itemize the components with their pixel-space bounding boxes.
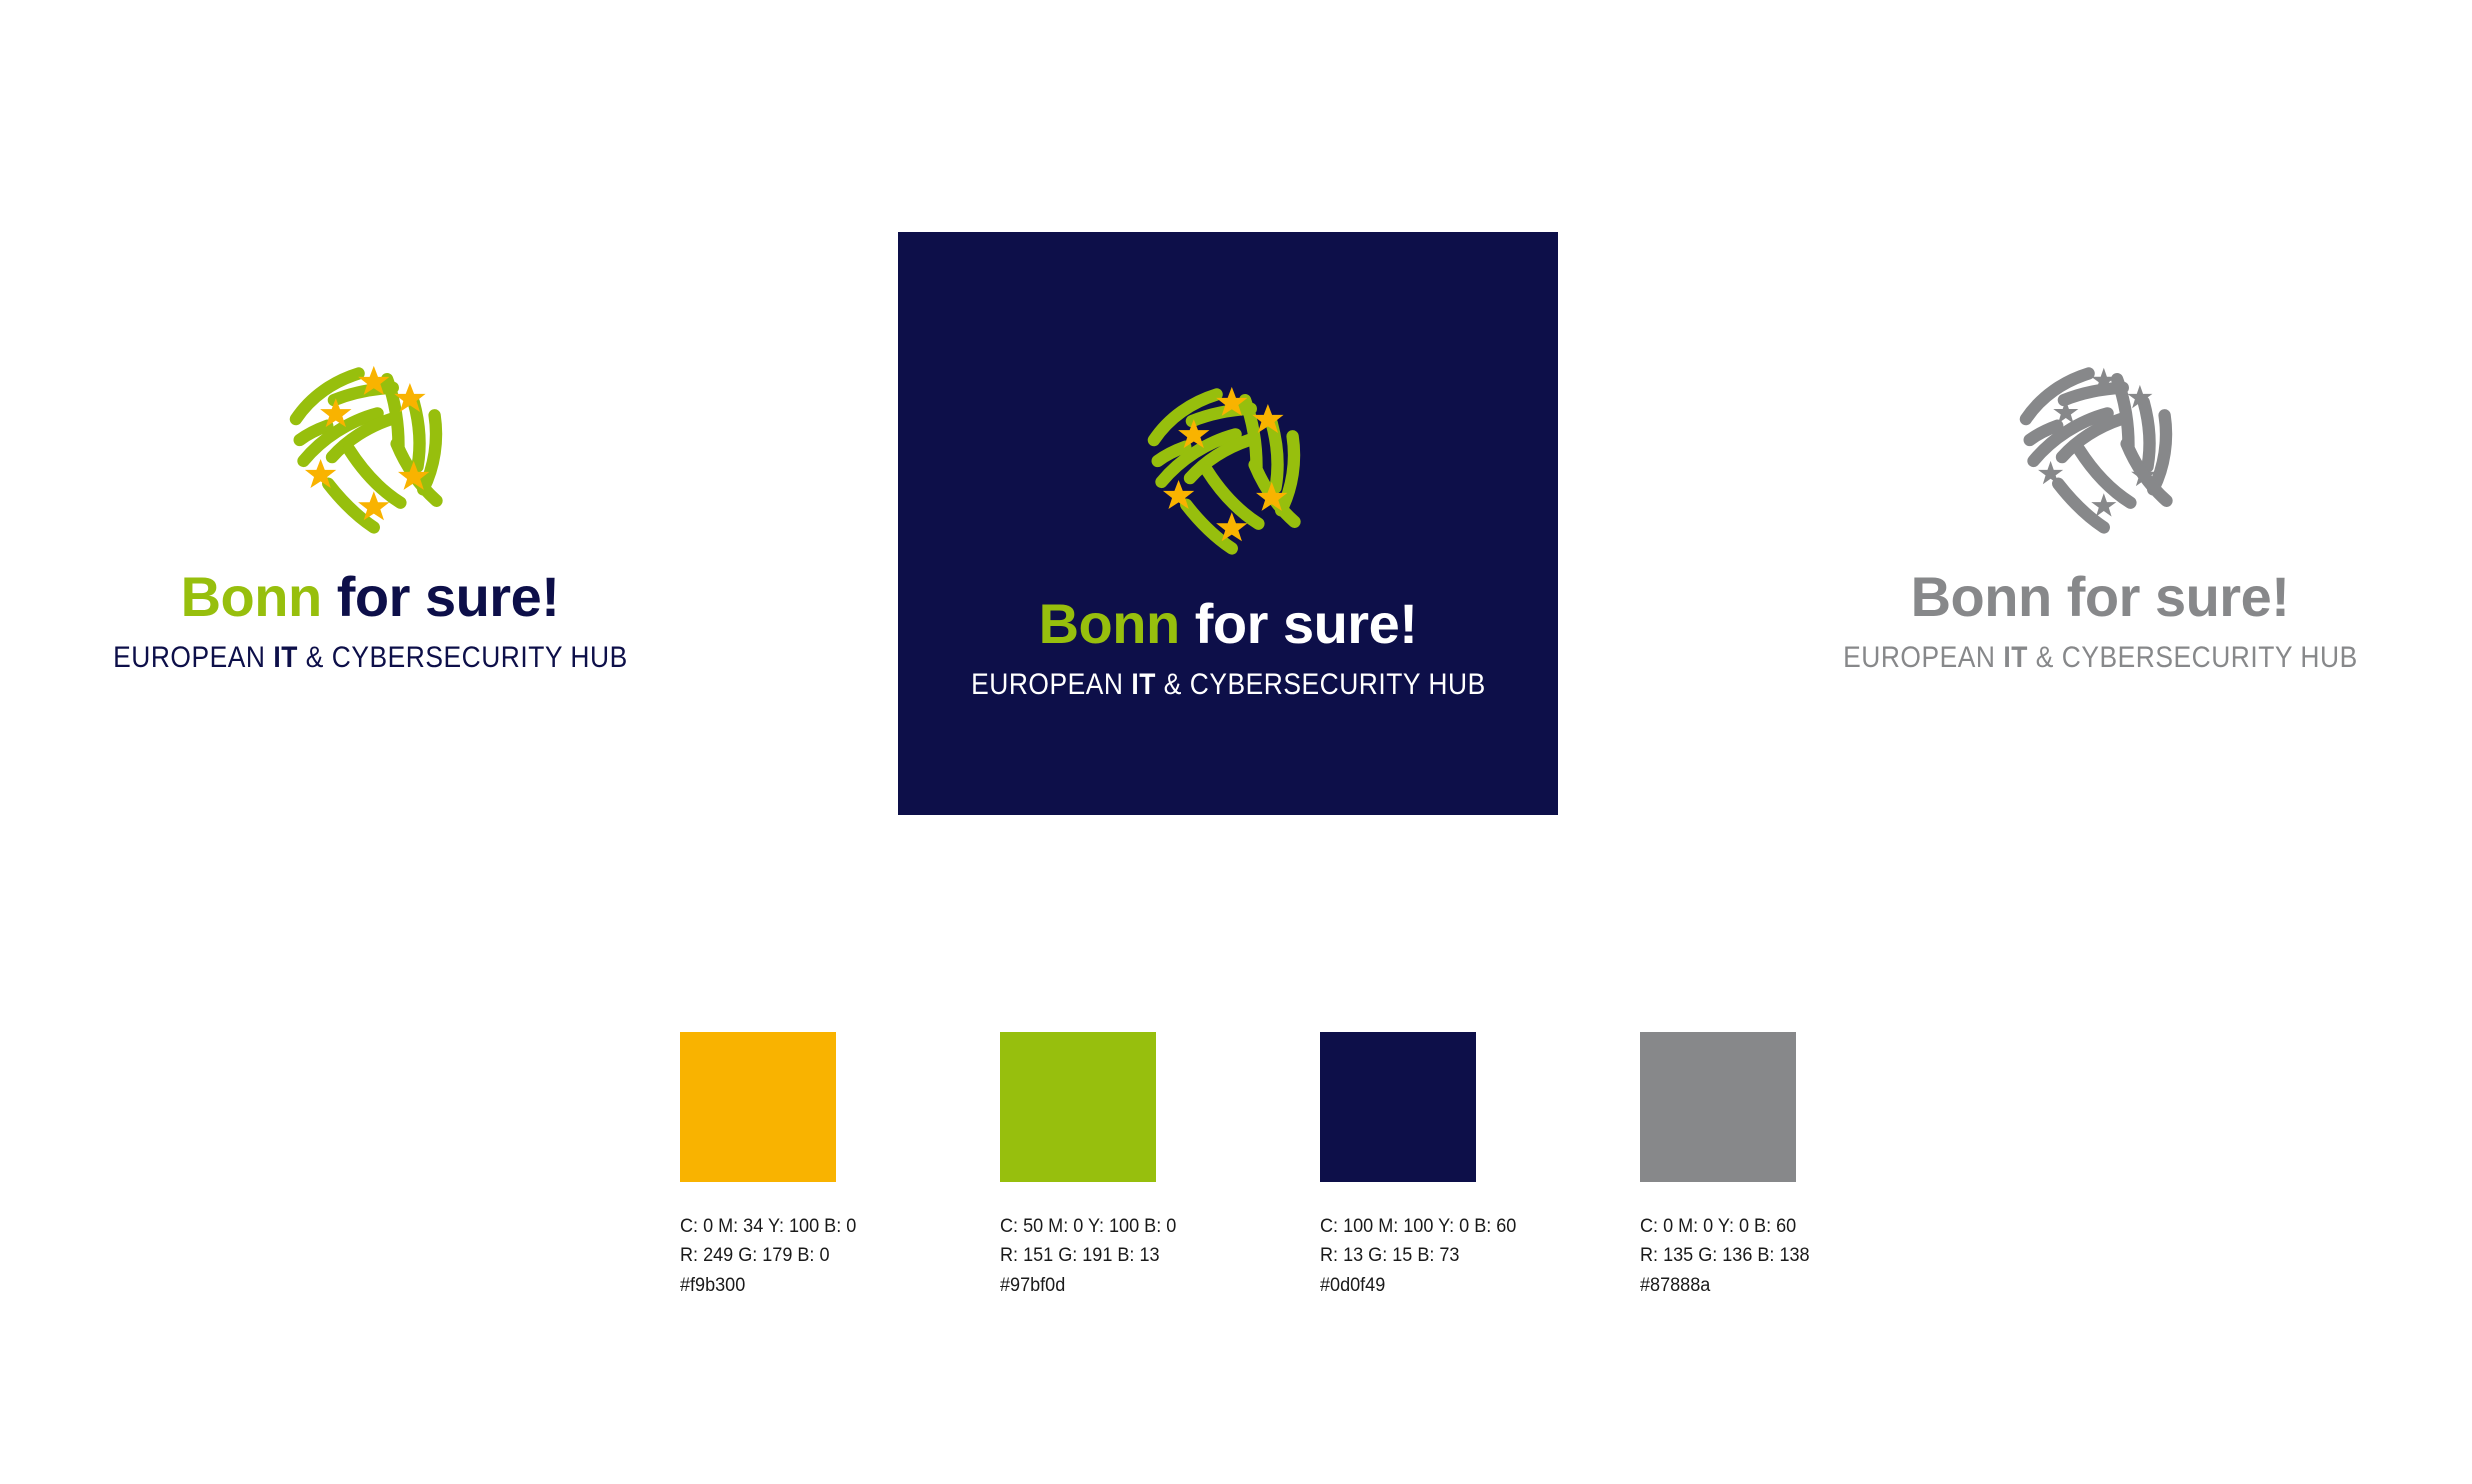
swatch-chip [1640, 1032, 1796, 1182]
swatch-cmyk: C: 0 M: 34 Y: 100 B: 0 [680, 1212, 984, 1241]
logo-lockup-primary: Bonn for sure! EUROPEAN IT & CYBERSECURI… [60, 345, 680, 673]
wordmark-base: for sure! [2052, 565, 2290, 628]
tagline-emphasis: IT [2003, 641, 2028, 674]
tagline: EUROPEAN IT & CYBERSECURITY HUB [1843, 643, 2358, 673]
swatch-brand-yellow: C: 0 M: 34 Y: 100 B: 0 R: 249 G: 179 B: … [680, 1032, 1000, 1300]
swatch-rgb: R: 151 G: 191 B: 13 [1000, 1241, 1304, 1270]
tagline-segment-1: EUROPEAN [971, 668, 1131, 701]
logo-lockup-greyscale: Bonn for sure! EUROPEAN IT & CYBERSECURI… [1790, 345, 2410, 673]
wordmark: Bonn for sure! [1911, 569, 2290, 625]
swatch-hex: #f9b300 [680, 1271, 984, 1300]
tagline: EUROPEAN IT & CYBERSECURITY HUB [971, 670, 1486, 700]
tagline: EUROPEAN IT & CYBERSECURITY HUB [113, 643, 628, 673]
tagline-segment-1: EUROPEAN [1843, 641, 2003, 674]
swatch-cmyk: C: 0 M: 0 Y: 0 B: 60 [1640, 1212, 1944, 1241]
swatch-cmyk: C: 50 M: 0 Y: 100 B: 0 [1000, 1212, 1304, 1241]
bonn-for-sure-shield-stars-logo [275, 345, 465, 535]
colour-palette: C: 0 M: 34 Y: 100 B: 0 R: 249 G: 179 B: … [680, 1032, 1960, 1300]
swatch-rgb: R: 13 G: 15 B: 73 [1320, 1241, 1624, 1270]
tagline-emphasis: IT [273, 641, 298, 674]
swatch-brand-grey: C: 0 M: 0 Y: 0 B: 60 R: 135 G: 136 B: 13… [1640, 1032, 1960, 1300]
inverse-logo-panel: Bonn for sure! EUROPEAN IT & CYBERSECURI… [898, 232, 1558, 815]
wordmark: Bonn for sure! [1039, 596, 1418, 652]
swatch-specs: C: 0 M: 34 Y: 100 B: 0 R: 249 G: 179 B: … [680, 1212, 984, 1300]
swatch-specs: C: 50 M: 0 Y: 100 B: 0 R: 151 G: 191 B: … [1000, 1212, 1304, 1300]
wordmark-base: for sure! [1180, 592, 1418, 655]
swatch-brand-navy: C: 100 M: 100 Y: 0 B: 60 R: 13 G: 15 B: … [1320, 1032, 1640, 1300]
swatch-specs: C: 0 M: 0 Y: 0 B: 60 R: 135 G: 136 B: 13… [1640, 1212, 1944, 1300]
swatch-rgb: R: 249 G: 179 B: 0 [680, 1241, 984, 1270]
bonn-for-sure-shield-stars-logo [2005, 345, 2195, 535]
bonn-for-sure-shield-stars-logo [1133, 366, 1323, 556]
swatch-chip [1000, 1032, 1156, 1182]
logo-lockup-inverse: Bonn for sure! EUROPEAN IT & CYBERSECURI… [898, 232, 1558, 815]
wordmark: Bonn for sure! [181, 569, 560, 625]
tagline-segment-2: & CYBERSECURITY HUB [1155, 668, 1485, 701]
swatch-brand-green: C: 50 M: 0 Y: 100 B: 0 R: 151 G: 191 B: … [1000, 1032, 1320, 1300]
wordmark-accent: Bonn [1039, 592, 1180, 655]
wordmark-accent: Bonn [181, 565, 322, 628]
swatch-chip [680, 1032, 836, 1182]
swatch-chip [1320, 1032, 1476, 1182]
swatch-hex: #87888a [1640, 1271, 1944, 1300]
swatch-hex: #97bf0d [1000, 1271, 1304, 1300]
tagline-segment-2: & CYBERSECURITY HUB [2027, 641, 2357, 674]
swatch-rgb: R: 135 G: 136 B: 138 [1640, 1241, 1944, 1270]
swatch-specs: C: 100 M: 100 Y: 0 B: 60 R: 13 G: 15 B: … [1320, 1212, 1624, 1300]
wordmark-base: for sure! [322, 565, 560, 628]
tagline-emphasis: IT [1131, 668, 1156, 701]
tagline-segment-2: & CYBERSECURITY HUB [297, 641, 627, 674]
tagline-segment-1: EUROPEAN [113, 641, 273, 674]
swatch-cmyk: C: 100 M: 100 Y: 0 B: 60 [1320, 1212, 1624, 1241]
wordmark-accent: Bonn [1911, 565, 2052, 628]
swatch-hex: #0d0f49 [1320, 1271, 1624, 1300]
